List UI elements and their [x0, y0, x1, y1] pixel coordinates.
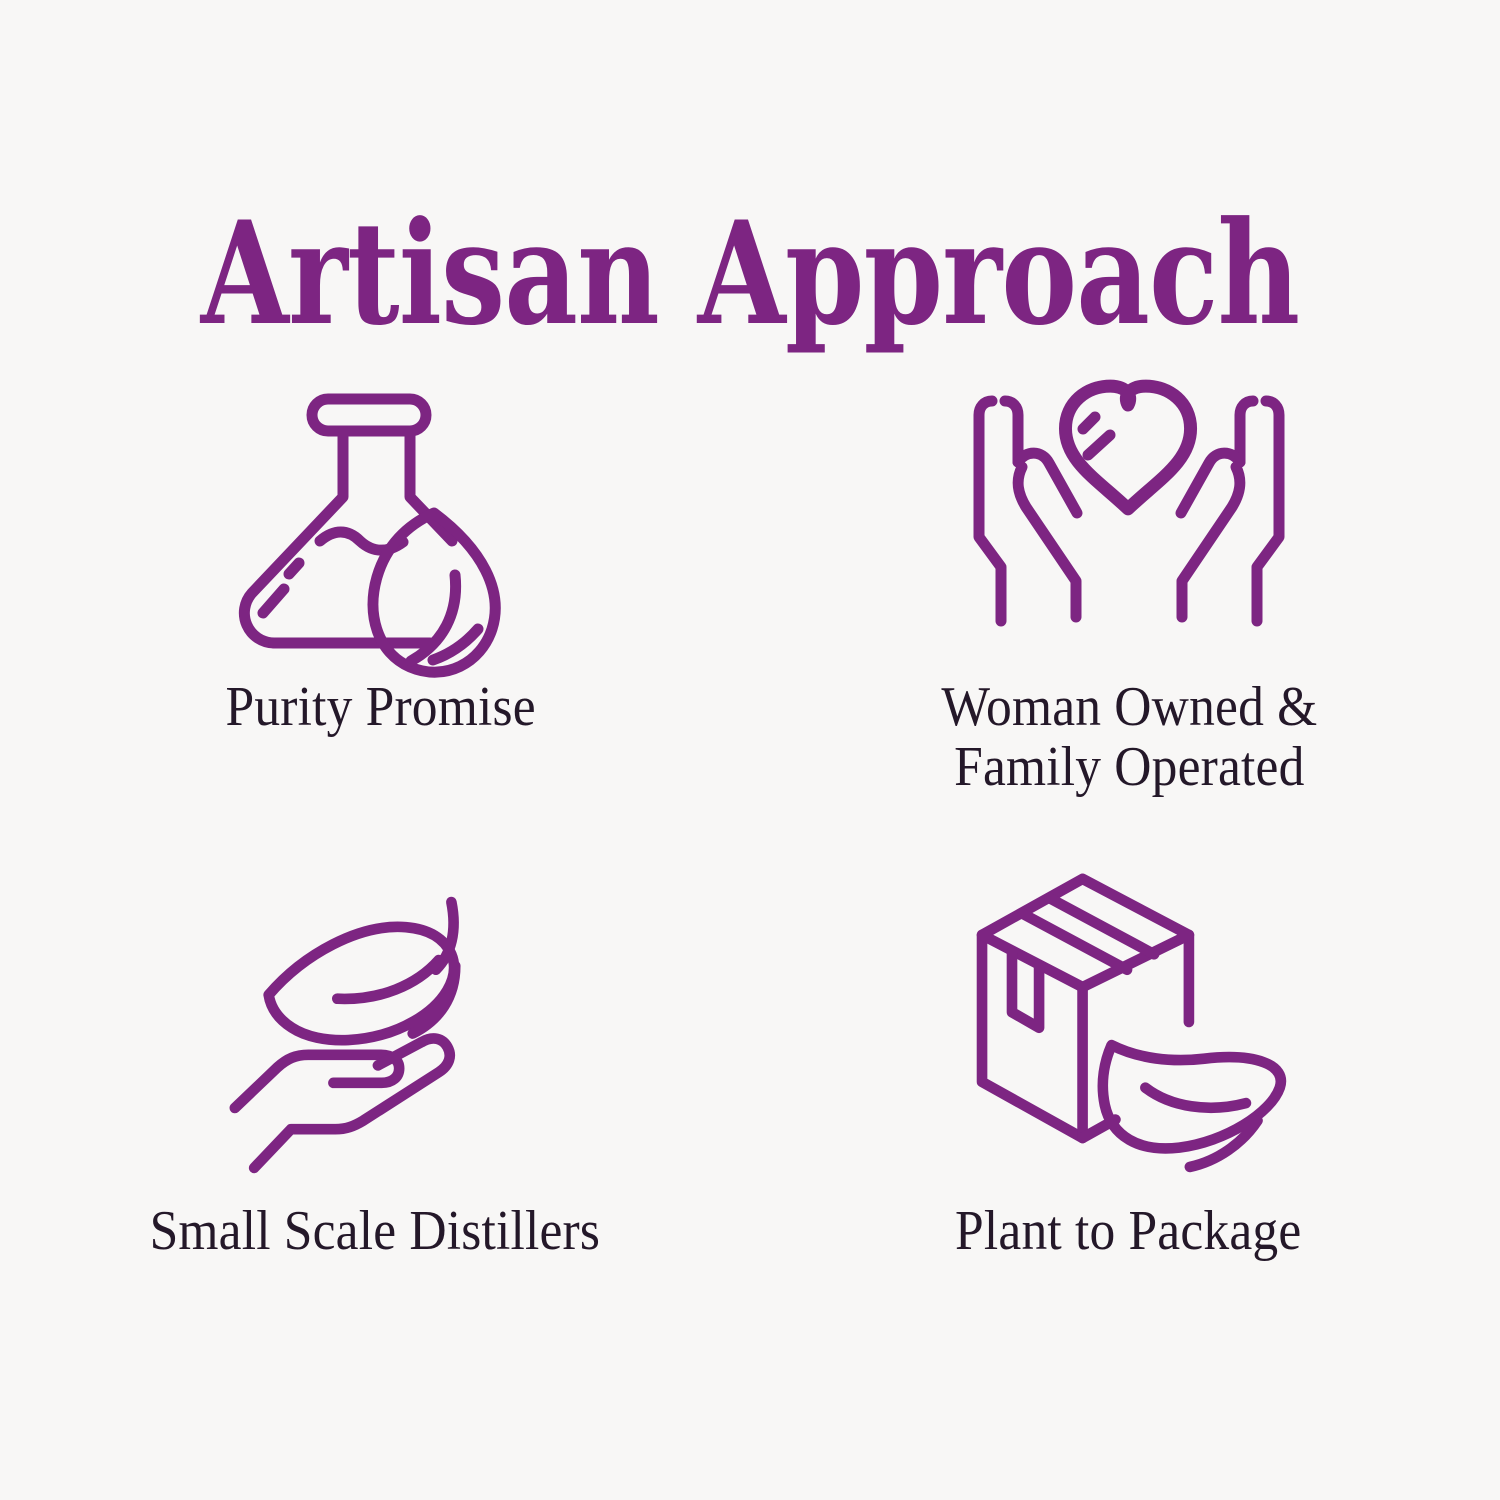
artisan-approach-panel: Artisan Approach: [0, 0, 1500, 1500]
feature-label-line: Woman Owned &: [941, 677, 1317, 737]
feature-label: Plant to Package: [955, 1201, 1301, 1261]
feature-label-line: Purity Promise: [226, 677, 536, 737]
feature-label: Purity Promise: [226, 677, 536, 737]
flask-leaf-icon: [216, 355, 546, 655]
feature-label-line: Plant to Package: [955, 1201, 1301, 1261]
feature-item-small-scale-distillers: Small Scale Distillers: [0, 875, 750, 1395]
feature-label-line: Small Scale Distillers: [150, 1201, 600, 1261]
feature-item-purity-promise: Purity Promise: [0, 355, 750, 875]
feature-grid: Purity Promise: [0, 355, 1500, 1395]
package-box-leaf-icon: [963, 875, 1293, 1165]
hands-holding-heart-icon: [964, 355, 1294, 655]
feature-item-plant-to-package: Plant to Package: [750, 875, 1500, 1395]
feature-label: Small Scale Distillers: [150, 1201, 600, 1261]
feature-label-line: Family Operated: [941, 737, 1317, 797]
feature-label: Woman Owned & Family Operated: [941, 677, 1317, 798]
leaf-in-hand-icon: [210, 875, 540, 1165]
page-title: Artisan Approach: [150, 203, 1350, 345]
feature-item-woman-owned: Woman Owned & Family Operated: [750, 355, 1500, 875]
